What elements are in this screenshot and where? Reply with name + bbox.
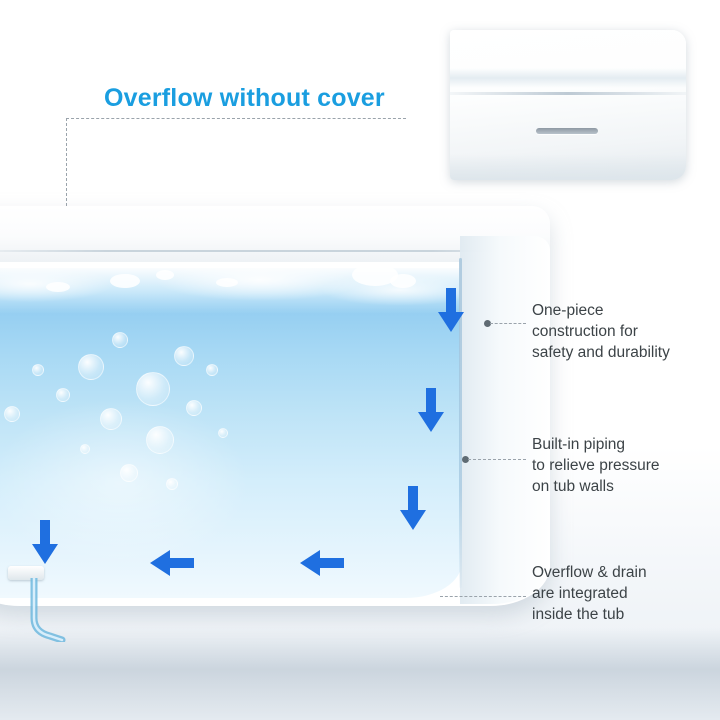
air-bubble (56, 388, 70, 402)
air-bubble (136, 372, 170, 406)
callout-leader-overflow-drain (440, 596, 526, 597)
air-bubble (78, 354, 104, 380)
tub-right-wall (460, 236, 550, 604)
splash-droplet (156, 270, 174, 280)
floor-shadow (0, 628, 720, 720)
arrow-left-icon (148, 548, 194, 578)
product-infographic: Overflow without cover (0, 0, 720, 720)
callout-built-in-piping: Built-in piping to relieve pressure on t… (532, 434, 720, 497)
splash-droplet (390, 274, 416, 288)
air-bubble (120, 464, 138, 482)
air-bubble (80, 444, 90, 454)
callout-leader-one-piece (490, 323, 526, 324)
headline-leader-horizontal (66, 118, 406, 119)
drain-pipe (16, 578, 70, 642)
splash-droplet (216, 278, 238, 287)
air-bubble (32, 364, 44, 376)
overflow-slot (536, 128, 598, 134)
air-bubble (112, 332, 128, 348)
callout-leader-built-in-piping (468, 459, 526, 460)
arrow-left-icon (298, 548, 344, 578)
splash-droplet (46, 282, 70, 292)
air-bubble (100, 408, 122, 430)
arrow-down-icon (30, 520, 60, 564)
overflow-cover-closeup-photo (450, 30, 686, 180)
arrow-down-icon (398, 486, 428, 530)
arrow-down-icon (416, 388, 446, 432)
arrow-down-icon (436, 288, 466, 332)
air-bubble (186, 400, 202, 416)
inset-sheen (450, 68, 686, 88)
headline-overflow-without-cover: Overflow without cover (104, 84, 385, 113)
air-bubble (166, 478, 178, 490)
air-bubble (146, 426, 174, 454)
inset-edge-line (450, 92, 686, 95)
air-bubble (206, 364, 218, 376)
inset-bottom-shade (450, 154, 686, 180)
callout-one-piece-construction: One-piece construction for safety and du… (532, 300, 720, 363)
water-fill (0, 268, 462, 598)
air-bubble (218, 428, 228, 438)
callout-overflow-drain: Overflow & drain are integrated inside t… (532, 562, 720, 625)
air-bubble (4, 406, 20, 422)
air-bubble (174, 346, 194, 366)
bathtub-illustration (0, 206, 550, 626)
splash-droplet (110, 274, 140, 288)
